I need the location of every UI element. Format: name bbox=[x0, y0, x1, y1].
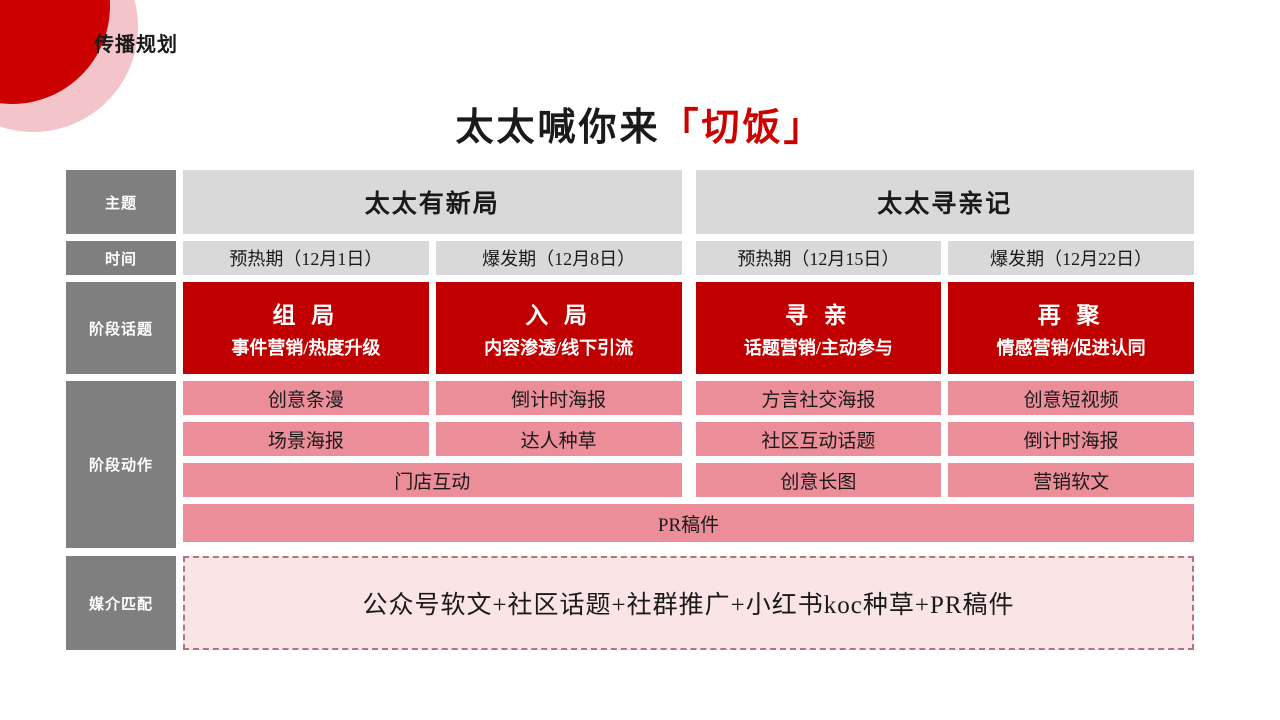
column-gap bbox=[682, 422, 696, 456]
action-group-2: 创意长图 营销软文 bbox=[696, 463, 1195, 497]
action-line-4: PR稿件 bbox=[183, 504, 1194, 542]
topic-cell: 寻 亲 话题营销/主动参与 bbox=[696, 282, 942, 374]
row-label-theme: 主题 bbox=[66, 170, 176, 234]
action-cell: 营销软文 bbox=[948, 463, 1194, 497]
topic-title: 寻 亲 bbox=[785, 296, 852, 330]
action-cell: 倒计时海报 bbox=[436, 381, 682, 415]
row-label-topic: 阶段话题 bbox=[66, 282, 176, 374]
action-cell: 方言社交海报 bbox=[696, 381, 942, 415]
action-group-1: 场景海报 达人种草 bbox=[183, 422, 682, 456]
action-cell: 创意长图 bbox=[696, 463, 942, 497]
theme-cells: 太太有新局 太太寻亲记 bbox=[183, 170, 1194, 234]
topic-cell: 入 局 内容渗透/线下引流 bbox=[436, 282, 682, 374]
time-cell: 爆发期（12月22日） bbox=[948, 241, 1194, 275]
time-cell: 预热期（12月1日） bbox=[183, 241, 429, 275]
topic-subtitle: 内容渗透/线下引流 bbox=[484, 334, 633, 360]
cell-gap bbox=[941, 282, 948, 374]
action-group-1: 门店互动 bbox=[183, 463, 682, 497]
cell-gap bbox=[941, 241, 948, 275]
topic-group-1: 组 局 事件营销/热度升级 入 局 内容渗透/线下引流 bbox=[183, 282, 682, 374]
media-match-cell: 公众号软文+社区话题+社群推广+小红书koc种草+PR稿件 bbox=[183, 556, 1194, 650]
topic-subtitle: 事件营销/热度升级 bbox=[231, 334, 380, 360]
topic-cell: 组 局 事件营销/热度升级 bbox=[183, 282, 429, 374]
matrix-row-theme: 主题 太太有新局 太太寻亲记 bbox=[66, 170, 1194, 234]
action-cell-merged: 门店互动 bbox=[183, 463, 682, 497]
action-cell: 社区互动话题 bbox=[696, 422, 942, 456]
time-group-2: 预热期（12月15日） 爆发期（12月22日） bbox=[696, 241, 1195, 275]
action-line-1: 创意条漫 倒计时海报 方言社交海报 创意短视频 bbox=[183, 381, 1194, 415]
column-gap bbox=[682, 170, 696, 234]
action-group-2: 方言社交海报 创意短视频 bbox=[696, 381, 1195, 415]
campaign-matrix: 主题 太太有新局 太太寻亲记 时间 预热期（12月1日） 爆发期（12月8日） … bbox=[66, 170, 1194, 650]
cell-gap bbox=[941, 381, 948, 415]
cell-gap bbox=[941, 422, 948, 456]
theme-cell: 太太寻亲记 bbox=[696, 170, 1195, 234]
time-group-1: 预热期（12月1日） 爆发期（12月8日） bbox=[183, 241, 682, 275]
theme-group-2: 太太寻亲记 bbox=[696, 170, 1195, 234]
title-accent-text: 「切饭」 bbox=[661, 107, 825, 149]
action-line-2: 场景海报 达人种草 社区互动话题 倒计时海报 bbox=[183, 422, 1194, 456]
action-cell: 倒计时海报 bbox=[948, 422, 1194, 456]
column-gap bbox=[682, 463, 696, 497]
theme-cell: 太太有新局 bbox=[183, 170, 682, 234]
topic-subtitle: 话题营销/主动参与 bbox=[744, 334, 893, 360]
row-label-time: 时间 bbox=[66, 241, 176, 275]
time-cell: 预热期（12月15日） bbox=[696, 241, 942, 275]
matrix-row-media: 媒介匹配 公众号软文+社区话题+社群推广+小红书koc种草+PR稿件 bbox=[66, 556, 1194, 650]
cell-gap bbox=[941, 463, 948, 497]
time-cell: 爆发期（12月8日） bbox=[436, 241, 682, 275]
action-cell: 创意条漫 bbox=[183, 381, 429, 415]
column-gap bbox=[682, 282, 696, 374]
matrix-row-actions: 阶段动作 创意条漫 倒计时海报 方言社交海报 创意短视频 场景海报 bbox=[66, 381, 1194, 549]
cell-gap bbox=[429, 422, 436, 456]
cell-gap bbox=[429, 241, 436, 275]
theme-group-1: 太太有新局 bbox=[183, 170, 682, 234]
topic-subtitle: 情感营销/促进认同 bbox=[997, 334, 1146, 360]
topic-cell: 再 聚 情感营销/促进认同 bbox=[948, 282, 1194, 374]
action-cell-fullwidth: PR稿件 bbox=[183, 504, 1194, 542]
section-label: 传播规划 bbox=[94, 28, 178, 57]
row-label-actions: 阶段动作 bbox=[66, 381, 176, 548]
action-group-2: 社区互动话题 倒计时海报 bbox=[696, 422, 1195, 456]
time-cells: 预热期（12月1日） 爆发期（12月8日） 预热期（12月15日） 爆发期（12… bbox=[183, 241, 1194, 275]
action-cell: 达人种草 bbox=[436, 422, 682, 456]
action-cell: 创意短视频 bbox=[948, 381, 1194, 415]
topic-title: 再 聚 bbox=[1038, 296, 1105, 330]
topic-cells: 组 局 事件营销/热度升级 入 局 内容渗透/线下引流 寻 亲 话题营销/主动参… bbox=[183, 282, 1194, 374]
action-line-3: 门店互动 创意长图 营销软文 bbox=[183, 463, 1194, 497]
cell-gap bbox=[429, 381, 436, 415]
column-gap bbox=[682, 381, 696, 415]
action-cell: 场景海报 bbox=[183, 422, 429, 456]
row-label-media: 媒介匹配 bbox=[66, 556, 176, 650]
action-cells: 创意条漫 倒计时海报 方言社交海报 创意短视频 场景海报 达人种草 bbox=[183, 381, 1194, 549]
topic-title: 组 局 bbox=[273, 296, 340, 330]
matrix-row-topic: 阶段话题 组 局 事件营销/热度升级 入 局 内容渗透/线下引流 寻 亲 话题营… bbox=[66, 282, 1194, 374]
matrix-row-time: 时间 预热期（12月1日） 爆发期（12月8日） 预热期（12月15日） 爆发期… bbox=[66, 241, 1194, 275]
action-group-1: 创意条漫 倒计时海报 bbox=[183, 381, 682, 415]
page-title: 太太喊你来「切饭」 bbox=[0, 96, 1280, 151]
topic-group-2: 寻 亲 话题营销/主动参与 再 聚 情感营销/促进认同 bbox=[696, 282, 1195, 374]
column-gap bbox=[682, 241, 696, 275]
title-main-text: 太太喊你来 bbox=[455, 107, 660, 149]
cell-gap bbox=[429, 282, 436, 374]
topic-title: 入 局 bbox=[525, 296, 592, 330]
